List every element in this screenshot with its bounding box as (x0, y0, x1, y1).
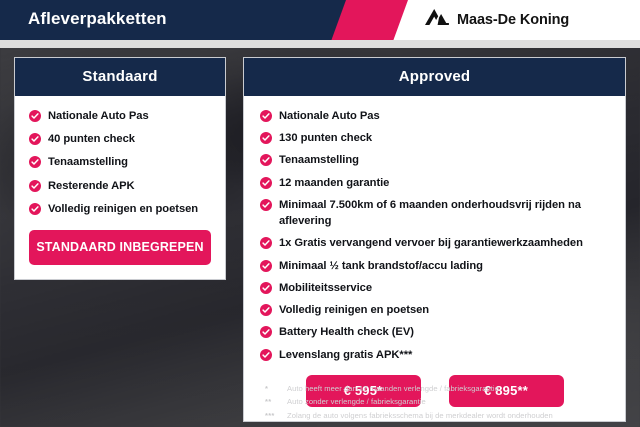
list-item: Minimaal 7.500km of 6 maanden onderhouds… (260, 197, 609, 229)
list-item: Levenslang gratis APK*** (260, 347, 609, 363)
list-item: Nationale Auto Pas (260, 108, 609, 124)
feature-label: Tenaamstelling (48, 154, 128, 170)
feature-label: 40 punten check (48, 131, 135, 147)
check-circle-icon (260, 236, 272, 248)
feature-label: Tenaamstelling (279, 152, 359, 168)
check-circle-icon (260, 259, 272, 271)
package-title-standaard: Standaard (15, 58, 225, 96)
footnote-text: Auto zonder verlengde / fabrieksgarantie (287, 396, 426, 407)
package-title-approved: Approved (244, 58, 625, 96)
list-item: Tenaamstelling (260, 152, 609, 168)
list-item: Tenaamstelling (29, 154, 211, 170)
delivery-packages-screen: Afleverpakketten Maas-De Koning Standaar… (0, 0, 640, 427)
feature-label: Volledig reinigen en poetsen (48, 201, 198, 217)
check-circle-icon (29, 202, 41, 214)
package-body-standaard: Nationale Auto Pas 40 punten check (15, 96, 225, 279)
footnote-marker: ** (265, 397, 283, 406)
list-item: Volledig reinigen en poetsen (29, 201, 211, 217)
feature-label: Minimaal ½ tank brandstof/accu lading (279, 258, 483, 274)
footnote-marker: *** (265, 411, 283, 420)
check-circle-icon (260, 198, 272, 210)
feature-label: Battery Health check (EV) (279, 324, 414, 340)
check-circle-icon (260, 153, 272, 165)
check-circle-icon (260, 325, 272, 337)
footnotes: * Auto heeft meer dan 12 maanden verleng… (265, 383, 635, 423)
feature-label: 130 punten check (279, 130, 372, 146)
list-item: Mobiliteitsservice (260, 280, 609, 296)
brand-name: Maas-De Koning (457, 12, 569, 28)
feature-label: Levenslang gratis APK*** (279, 347, 412, 363)
check-circle-icon (260, 109, 272, 121)
footnote-row: ** Auto zonder verlengde / fabrieksgaran… (265, 396, 635, 407)
check-circle-icon (260, 176, 272, 188)
feature-label: Resterende APK (48, 178, 135, 194)
list-item: Resterende APK (29, 178, 211, 194)
package-card-approved: Approved Nationale Auto Pas (243, 57, 626, 422)
list-item: 1x Gratis vervangend vervoer bij garanti… (260, 235, 609, 251)
feature-list-standaard: Nationale Auto Pas 40 punten check (29, 108, 211, 217)
footnote-marker: * (265, 384, 283, 393)
check-circle-icon (260, 348, 272, 360)
list-item: 130 punten check (260, 130, 609, 146)
feature-label: 12 maanden garantie (279, 175, 389, 191)
feature-label: Nationale Auto Pas (48, 108, 149, 124)
list-item: Nationale Auto Pas (29, 108, 211, 124)
feature-label: Nationale Auto Pas (279, 108, 380, 124)
footnote-row: *** Zolang de auto volgens fabrieksschem… (265, 410, 635, 421)
footnote-row: * Auto heeft meer dan 12 maanden verleng… (265, 383, 635, 394)
footnote-text: Zolang de auto volgens fabrieksschema bi… (287, 410, 553, 421)
standaard-inbegrepen-button[interactable]: STANDAARD INBEGREPEN (29, 230, 211, 265)
check-circle-icon (260, 131, 272, 143)
header-underband (0, 40, 640, 48)
package-card-standaard: Standaard Nationale Auto Pas (14, 57, 226, 280)
list-item: 40 punten check (29, 131, 211, 147)
check-circle-icon (260, 281, 272, 293)
footnote-text: Auto heeft meer dan 12 maanden verlengde… (287, 383, 499, 394)
feature-label: Minimaal 7.500km of 6 maanden onderhouds… (279, 197, 609, 229)
check-circle-icon (29, 179, 41, 191)
package-body-approved: Nationale Auto Pas 130 punten check (244, 96, 625, 421)
check-circle-icon (29, 155, 41, 167)
list-item: Battery Health check (EV) (260, 324, 609, 340)
page-header: Afleverpakketten Maas-De Koning (0, 0, 640, 40)
list-item: Volledig reinigen en poetsen (260, 302, 609, 318)
list-item: Minimaal ½ tank brandstof/accu lading (260, 258, 609, 274)
maas-de-koning-m-mark-icon (424, 8, 450, 31)
check-circle-icon (29, 109, 41, 121)
feature-label: Mobiliteitsservice (279, 280, 372, 296)
feature-label: 1x Gratis vervangend vervoer bij garanti… (279, 235, 583, 251)
feature-label: Volledig reinigen en poetsen (279, 302, 429, 318)
check-circle-icon (260, 303, 272, 315)
brand-logo[interactable]: Maas-De Koning (424, 8, 569, 31)
page-title: Afleverpakketten (28, 9, 167, 29)
list-item: 12 maanden garantie (260, 175, 609, 191)
check-circle-icon (29, 132, 41, 144)
feature-list-approved: Nationale Auto Pas 130 punten check (260, 108, 609, 363)
